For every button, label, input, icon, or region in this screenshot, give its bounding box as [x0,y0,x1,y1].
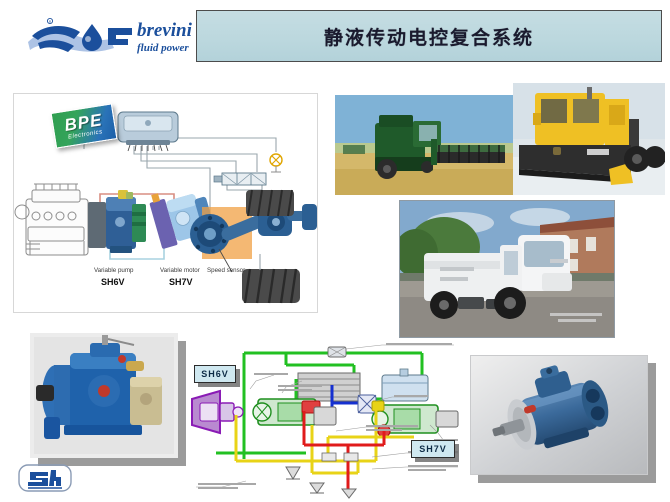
brevini-wave-mark: R [28,18,132,52]
photo-street-sweeper [399,200,615,338]
diesel-engine [15,184,88,255]
warning-lamp-icon [270,154,282,172]
page-title: 静液传动电控复合系统 [324,23,534,50]
photo-variable-motor [470,355,648,475]
ecu-controller [118,112,178,151]
variable-motor-code: SH7V [169,277,193,287]
photo-variable-pump [30,333,178,458]
variable-pump-code: SH6V [101,277,125,287]
brand-tagline: fluid power [137,42,189,54]
rear-wheel [246,190,294,216]
sh-footer-logo [18,464,72,492]
variable-motor-label: Variable motor [160,267,200,274]
brand-name: brevini [137,20,192,41]
callout-sh7v: SH7V [411,440,455,458]
photo-combine-harvester [335,95,513,195]
brevini-logo: R brevini fluid power [22,12,192,60]
speed-sensor-label: Speed sensor [207,267,245,274]
charge-relief-valve [328,347,346,357]
callout-sh6v: SH6V [194,365,236,383]
variable-pump-label: Variable pump [94,267,134,274]
slide-title-bar: 静液传动电控复合系统 [196,10,662,62]
control-valve [214,173,266,185]
front-wheel [242,269,300,303]
variable-pump-sh6v [88,190,146,253]
presentation-slide: R brevini fluid power 静液传动电控复合系统 [0,0,670,502]
photo-motor-grader [513,83,665,195]
sh-monogram [28,470,62,488]
